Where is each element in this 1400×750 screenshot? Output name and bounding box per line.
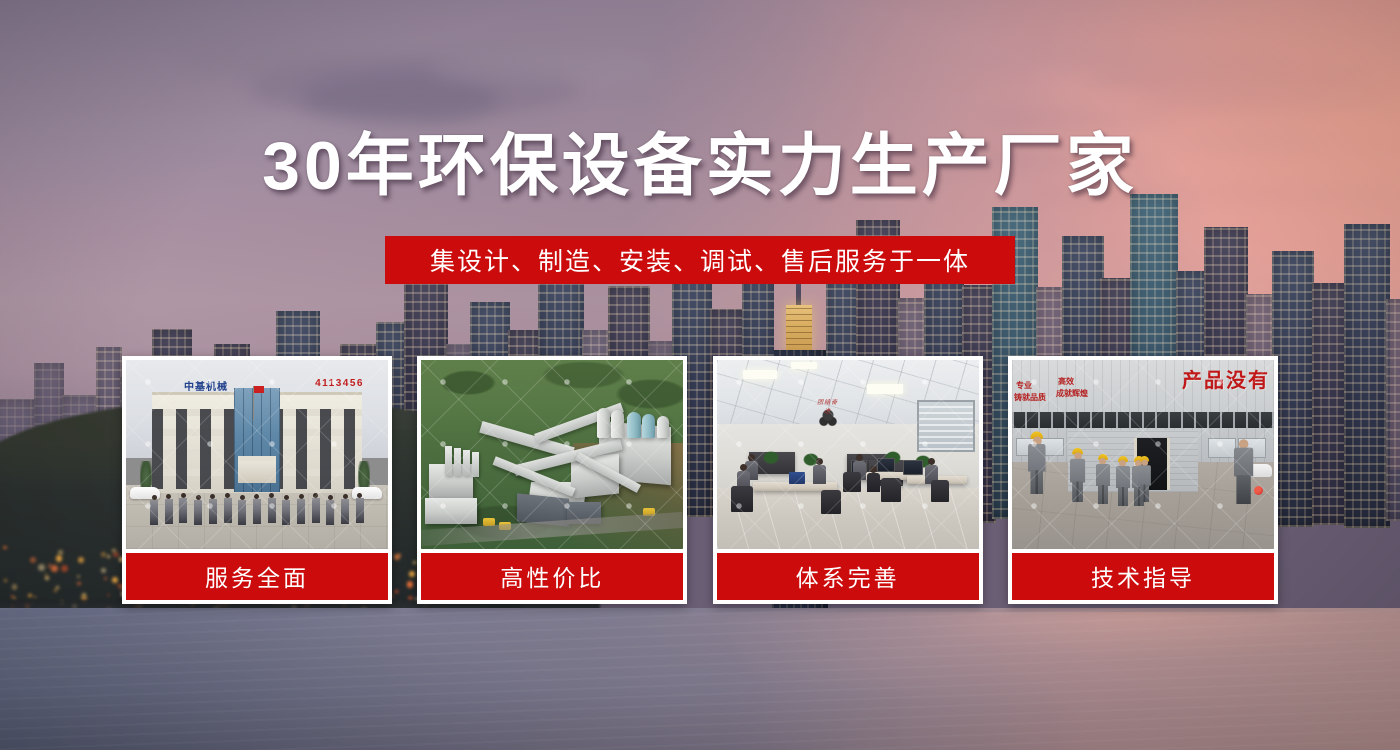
silo (642, 414, 655, 438)
card-caption: 技术指导 (1012, 553, 1274, 600)
worker-legs (1140, 485, 1149, 502)
hero-banner: 30年环保设备实力生产厂家 集设计、制造、安装、调试、售后服务于一体 中基机械 … (0, 0, 1400, 750)
worker-legs (1072, 481, 1083, 502)
office-window-blinds (917, 400, 975, 452)
skyline-building (1386, 299, 1400, 521)
shore-light (78, 557, 84, 563)
staff-lineup (150, 489, 364, 523)
staff-member (179, 493, 187, 523)
office-chair (821, 490, 841, 514)
office-chair (881, 478, 901, 502)
worker (1138, 456, 1151, 502)
window (1208, 438, 1236, 458)
shore-light (54, 589, 57, 592)
staff-member (165, 494, 173, 523)
worker (1096, 454, 1110, 504)
staff-member (326, 495, 334, 523)
staff-member (268, 493, 276, 523)
staff-member (341, 494, 349, 523)
shore-light (77, 575, 80, 578)
employee (867, 466, 880, 492)
silo (627, 412, 641, 438)
factory-sign-text: 产品没有 (1182, 364, 1270, 393)
shore-light (113, 552, 119, 558)
staff-member (209, 494, 217, 523)
ceiling-light (791, 362, 817, 369)
staff-member (224, 493, 232, 523)
company-sign-text: 中基机械 (184, 378, 228, 393)
office-chair (843, 472, 861, 492)
silo (597, 408, 610, 438)
worker-legs (1098, 485, 1108, 504)
shore-light (107, 594, 109, 596)
subtitle-banner: 集设计、制造、安装、调试、售后服务于一体 (385, 236, 1015, 284)
shore-light (112, 577, 118, 583)
office-chair (731, 486, 753, 512)
wall-art-text: 团结奋进 (817, 397, 839, 403)
staff-member (253, 494, 261, 523)
staff-member (150, 495, 158, 523)
feature-card-list: 中基机械 4113456 服务全面 (122, 356, 1278, 604)
skyline-building (1272, 251, 1314, 527)
worker-body (1138, 465, 1151, 485)
supervisor-legs (1236, 475, 1250, 504)
phone-number-text: 4113456 (315, 378, 364, 389)
smoke-stack (445, 446, 452, 476)
staff-member (282, 495, 290, 523)
worker-body (1096, 464, 1110, 486)
staff-member (297, 494, 305, 523)
shore-light (4, 579, 7, 582)
wall-slogan-text: 铸就品质 (1014, 394, 1046, 403)
shore-light (45, 576, 49, 580)
shore-light (56, 555, 62, 561)
worker-body (1028, 444, 1046, 472)
smoke-stack (454, 448, 461, 476)
employee (813, 458, 826, 484)
staff-member (194, 495, 202, 523)
supervisor-body (1234, 448, 1253, 477)
shore-light (112, 549, 115, 552)
shore-light (30, 557, 36, 563)
wall-decal-icon: 团结奋进 (813, 404, 843, 432)
shore-light (28, 594, 32, 598)
flag-icon (254, 386, 264, 393)
smoke-stack (463, 450, 470, 476)
worker (1116, 456, 1130, 506)
card-photo-industrial-plant (421, 360, 683, 549)
staff-member (238, 495, 246, 523)
staff-member (312, 493, 320, 523)
monitor (903, 460, 923, 475)
red-helmet-icon (1254, 486, 1263, 495)
shore-light (104, 577, 107, 580)
cloud (60, 18, 320, 42)
card-photo-office-building: 中基机械 4113456 (126, 360, 388, 549)
feature-card[interactable]: 中基机械 4113456 服务全面 (122, 356, 392, 604)
water-reflection (560, 612, 1400, 732)
shore-light (61, 565, 68, 572)
ceiling-light (867, 384, 903, 394)
wall-slogan-text: 专业 (1016, 382, 1032, 391)
shore-light (3, 546, 6, 549)
worker-body (1116, 466, 1130, 488)
ceiling-light (743, 370, 777, 379)
skyline-building (1312, 283, 1348, 525)
shore-light (101, 568, 106, 573)
wall-slogan-text: 高效 (1058, 378, 1074, 387)
cloud (430, 52, 660, 86)
subtitle-text: 集设计、制造、安装、调试、售后服务于一体 (430, 242, 970, 278)
card-caption: 服务全面 (126, 553, 388, 600)
card-caption: 高性价比 (421, 553, 683, 600)
feature-card[interactable]: 团结奋进 (713, 356, 983, 604)
card-photo-worker-briefing: 产品没有 专业 铸就品质 高效 成就辉煌 (1012, 360, 1274, 549)
building-entrance (238, 456, 276, 483)
worker-legs (1118, 487, 1128, 506)
wall-window-strip (1012, 412, 1274, 428)
feature-card[interactable]: 产品没有 专业 铸就品质 高效 成就辉煌 (1008, 356, 1278, 604)
shore-light (107, 555, 110, 558)
card-caption: 体系完善 (717, 553, 979, 600)
feature-card[interactable]: 高性价比 (417, 356, 687, 604)
office-chair (931, 480, 949, 502)
potted-plant (761, 448, 781, 464)
shore-light (12, 584, 18, 590)
supervisor (1234, 439, 1253, 504)
worker (1028, 432, 1046, 495)
shore-light (58, 550, 63, 555)
silo (657, 416, 669, 438)
shore-light (101, 552, 106, 557)
page-title: 30年环保设备实力生产厂家 (0, 132, 1400, 200)
skyline-building (1344, 224, 1390, 528)
worker-body (1070, 459, 1085, 483)
staff-member (356, 493, 364, 523)
shore-light (77, 582, 80, 585)
silo (611, 410, 624, 438)
shore-light (45, 573, 48, 576)
card-photo-office-interior: 团结奋进 (717, 360, 979, 549)
shore-light (38, 564, 45, 571)
worker-legs (1030, 470, 1043, 494)
plant-building (425, 498, 477, 524)
worker (1070, 448, 1085, 502)
shore-light (51, 565, 58, 572)
wall-slogan-text: 成就辉煌 (1056, 390, 1088, 399)
shore-light (34, 596, 36, 598)
laptop (789, 472, 805, 484)
smoke-stack (472, 452, 479, 477)
shore-light (56, 586, 59, 589)
